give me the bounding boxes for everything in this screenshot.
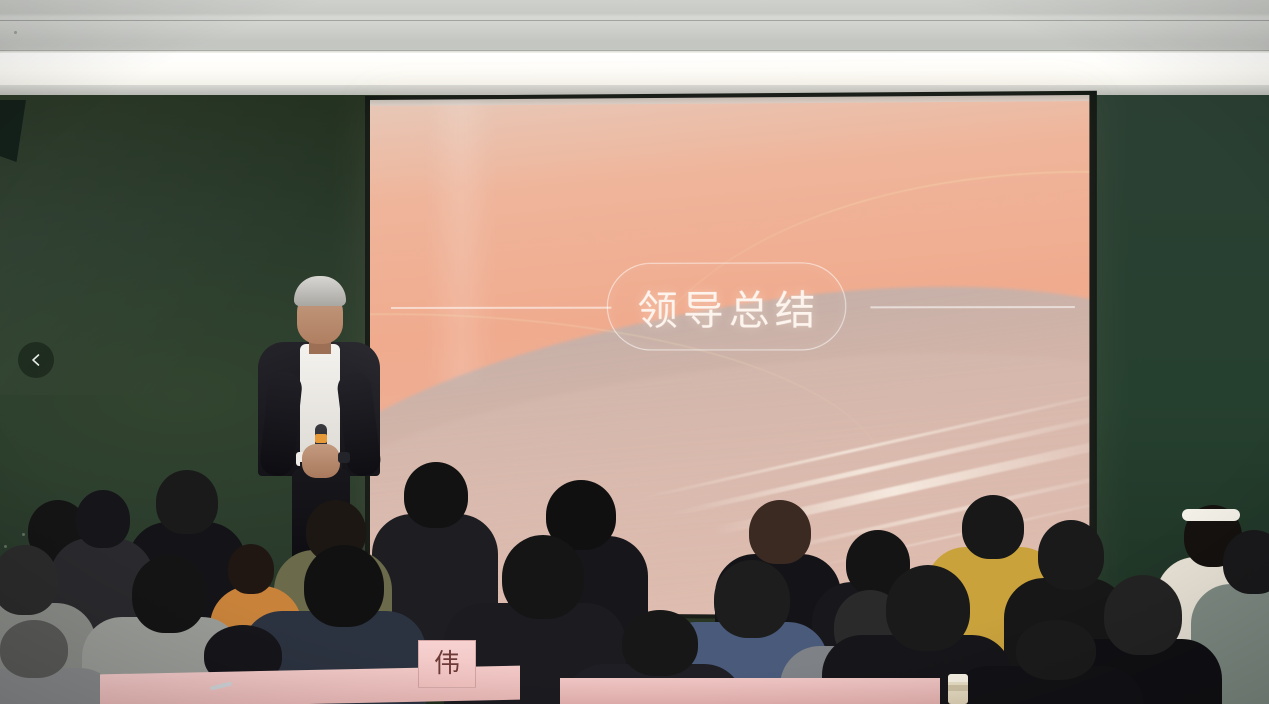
ceiling-seam — [0, 20, 1269, 21]
name-placard: 伟 — [418, 640, 476, 688]
presentation-photo: 领导总结 — [0, 0, 1269, 704]
front-table — [0, 664, 1269, 704]
chevron-left-icon — [28, 352, 44, 368]
presenter-hair — [294, 276, 346, 306]
projection-screen: 领导总结 — [370, 95, 1089, 617]
bottle-label — [948, 685, 968, 691]
ceiling — [0, 0, 1269, 95]
presenter-trousers — [292, 469, 350, 579]
microphone-band — [315, 434, 327, 443]
slide-rule-left — [391, 307, 611, 309]
bottle-cap — [948, 674, 968, 682]
slide-rule-right — [871, 306, 1075, 308]
table-cloth-right — [560, 678, 940, 704]
presenter-hands — [302, 444, 340, 478]
wall-marking — [4, 545, 7, 548]
slide-title-pill: 领导总结 — [607, 263, 846, 351]
ceiling-screw — [14, 31, 17, 34]
ceiling-seam — [0, 50, 1269, 51]
presenter-watch — [338, 452, 350, 463]
water-bottle — [948, 674, 968, 704]
ceiling-light-strip — [0, 53, 1269, 85]
placard-name: 伟 — [434, 651, 460, 677]
wall-marking — [22, 533, 25, 536]
previous-button[interactable] — [18, 342, 54, 378]
presenter — [252, 276, 384, 576]
slide-headline: 领导总结 — [632, 277, 820, 336]
back-wall-right — [1075, 95, 1269, 704]
